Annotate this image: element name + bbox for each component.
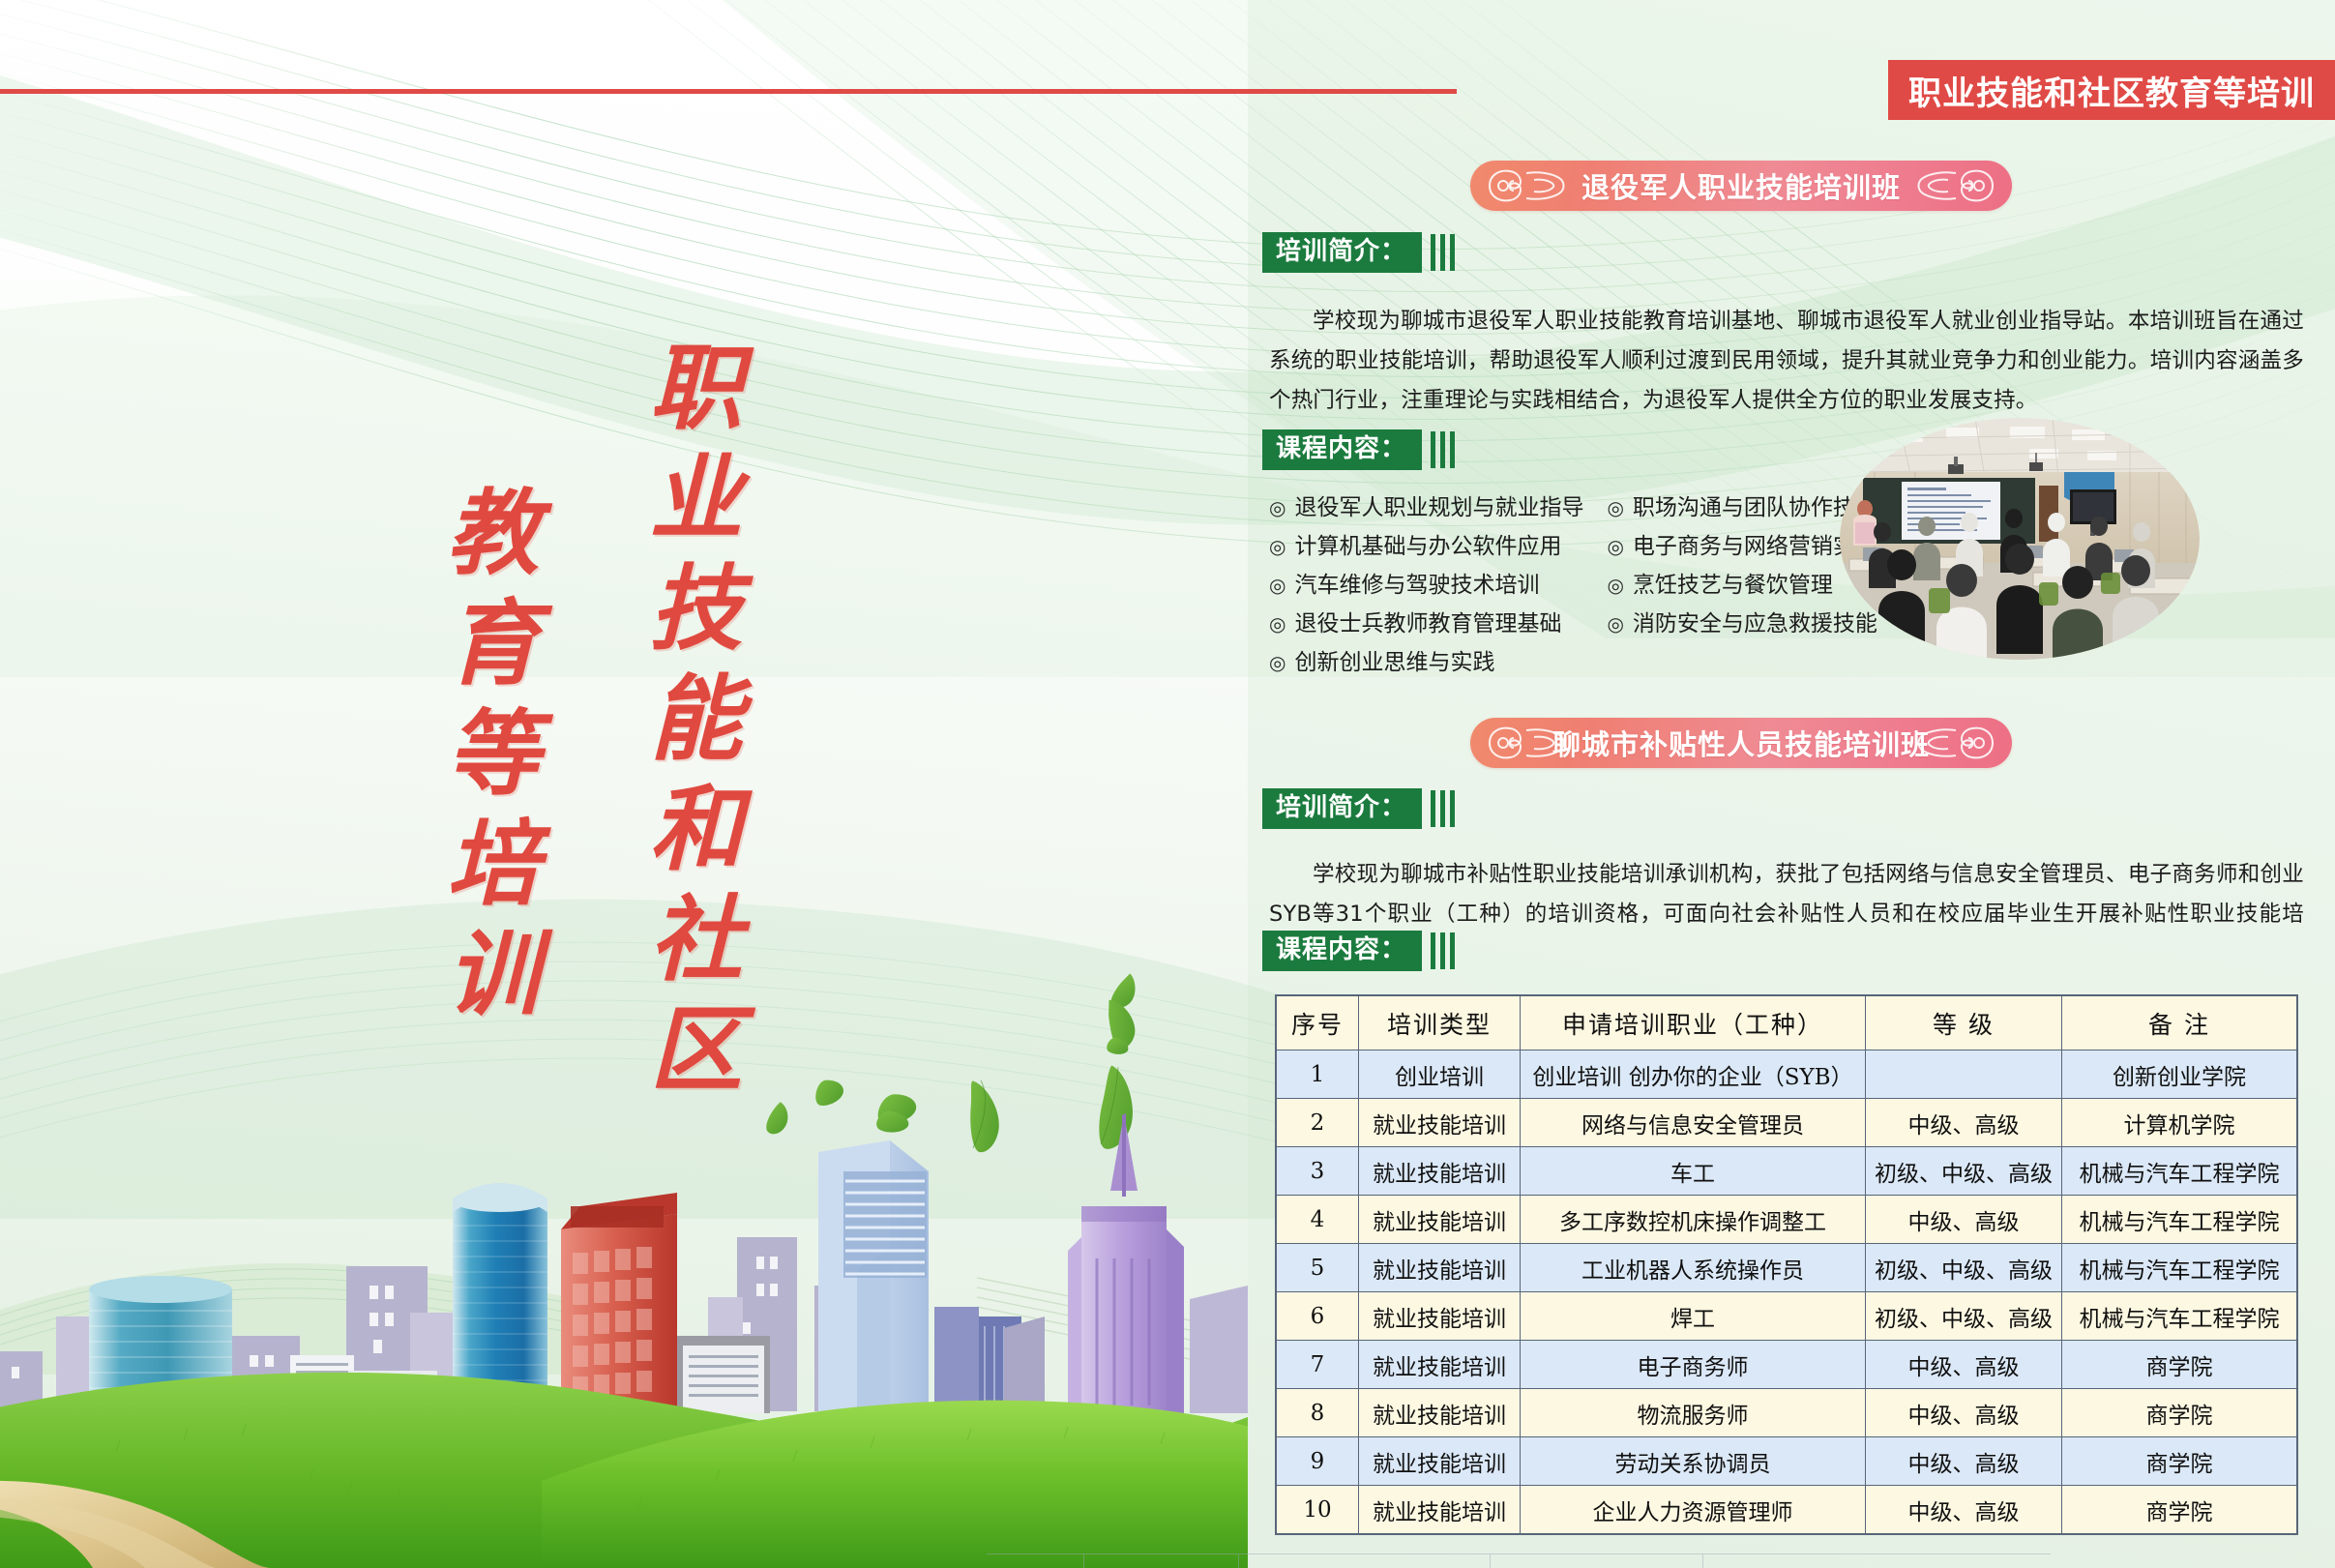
table-header-cell: 备 注 <box>2062 995 2298 1050</box>
cloud-ornament-left-icon <box>1484 724 1569 762</box>
table-cell-index: 6 <box>1276 1292 1359 1341</box>
bullet-marker-icon: ◎ <box>1607 532 1623 562</box>
table-row: 1 创业培训 创业培训 创办你的企业（SYB） 创新创业学院 <box>1276 1050 2297 1099</box>
table-cell-level: 初级、中级、高级 <box>1866 1292 2062 1341</box>
table-cell-type: 就业技能培训 <box>1359 1196 1521 1244</box>
header-red-rule <box>0 89 1457 94</box>
table-cell-remark: 机械与汽车工程学院 <box>2062 1147 2298 1196</box>
table-row: 6 就业技能培训 焊工 初级、中级、高级 机械与汽车工程学院 <box>1276 1292 2297 1341</box>
list-item-label: 汽车维修与驾驶技术培训 <box>1294 571 1539 601</box>
label-bars-icon <box>1431 789 1455 828</box>
table-row: 5 就业技能培训 工业机器人系统操作员 初级、中级、高级 机械与汽车工程学院 <box>1276 1244 2297 1292</box>
next-page-bleed <box>987 1553 2051 1568</box>
table-cell-remark: 机械与汽车工程学院 <box>2062 1292 2298 1341</box>
table-row: 8 就业技能培训 物流服务师 中级、高级 商学院 <box>1276 1389 2297 1437</box>
list-item: ◎ 电子商务与网络营销实战 <box>1607 532 1877 562</box>
table-cell-occupation: 焊工 <box>1521 1292 1866 1341</box>
cloud-ornament-right-icon <box>1913 724 1998 762</box>
table-cell-occupation: 车工 <box>1521 1147 1866 1196</box>
table-cell-index: 1 <box>1276 1050 1359 1099</box>
table-cell-remark: 商学院 <box>2062 1341 2298 1389</box>
cloud-ornament-left-icon <box>1484 166 1569 205</box>
table-cell-occupation: 工业机器人系统操作员 <box>1521 1244 1866 1292</box>
list-item: ◎ 退役军人职业规划与就业指导 <box>1269 493 1583 523</box>
list-item-label: 退役军人职业规划与就业指导 <box>1294 493 1583 523</box>
table-cell-remark: 商学院 <box>2062 1437 2298 1486</box>
bullet-marker-icon: ◎ <box>1607 493 1623 523</box>
table-cell-index: 3 <box>1276 1147 1359 1196</box>
table-cell-remark: 商学院 <box>2062 1486 2298 1535</box>
content-label-1: 课程内容： <box>1262 429 1455 470</box>
table-cell-type: 创业培训 <box>1359 1050 1521 1099</box>
bullet-marker-icon: ◎ <box>1269 493 1286 523</box>
label-bars-icon <box>1431 233 1455 272</box>
bullet-marker-icon: ◎ <box>1607 609 1623 639</box>
section-banner-1-title: 退役军人职业技能培训班 <box>1581 165 1901 206</box>
table-cell-level: 中级、高级 <box>1866 1486 2062 1535</box>
content-label-2: 课程内容： <box>1262 931 1455 971</box>
table-cell-remark: 机械与汽车工程学院 <box>2062 1196 2298 1244</box>
table-cell-index: 10 <box>1276 1486 1359 1535</box>
course-bullet-list-1: ◎ 退役军人职业规划与就业指导 ◎ 计算机基础与办公软件应用 ◎ 汽车维修与驾驶… <box>1269 493 1877 678</box>
table-cell-type: 就业技能培训 <box>1359 1147 1521 1196</box>
bullet-marker-icon: ◎ <box>1269 532 1286 562</box>
intro-paragraph-1: 学校现为聊城市退役军人职业技能教育培训基地、聊城市退役军人就业创业指导站。本培训… <box>1269 302 2304 421</box>
list-item-label: 创新创业思维与实践 <box>1294 648 1494 678</box>
list-item: ◎ 烹饪技艺与餐饮管理 <box>1607 571 1877 601</box>
table-cell-type: 就业技能培训 <box>1359 1292 1521 1341</box>
bullet-marker-icon: ◎ <box>1607 571 1623 601</box>
table-cell-level: 初级、中级、高级 <box>1866 1147 2062 1196</box>
course-table-wrap: 序号 培训类型 申请培训职业（工种） 等 级 备 注 1 创业培训 创业培训 创… <box>1275 994 2298 1535</box>
bullet-marker-icon: ◎ <box>1269 571 1286 601</box>
table-header-cell: 培训类型 <box>1359 995 1521 1050</box>
intro-label-1-text: 培训简介： <box>1262 232 1422 273</box>
brochure-page: 职业技能和社区教育等培训 职业技能和社区 教育等培训 <box>0 0 2335 1568</box>
table-cell-level: 中级、高级 <box>1866 1099 2062 1147</box>
table-cell-occupation: 网络与信息安全管理员 <box>1521 1099 1866 1147</box>
cover-title-line-1: 职业技能和社区 <box>640 339 735 1110</box>
bullet-column-1: ◎ 退役军人职业规划与就业指导 ◎ 计算机基础与办公软件应用 ◎ 汽车维修与驾驶… <box>1269 493 1583 678</box>
table-cell-occupation: 劳动关系协调员 <box>1521 1437 1866 1486</box>
label-bars-icon <box>1431 932 1455 970</box>
table-cell-remark: 创新创业学院 <box>2062 1050 2298 1099</box>
content-label-2-text: 课程内容： <box>1262 931 1422 971</box>
table-header-row: 序号 培训类型 申请培训职业（工种） 等 级 备 注 <box>1276 995 2297 1050</box>
table-cell-level: 中级、高级 <box>1866 1341 2062 1389</box>
table-row: 10 就业技能培训 企业人力资源管理师 中级、高级 商学院 <box>1276 1486 2297 1535</box>
table-cell-type: 就业技能培训 <box>1359 1486 1521 1535</box>
content-column: 退役军人职业技能培训班 培训简介： 学校现为聊城市退役军人职业技能教育培训基地、… <box>1248 0 2335 1568</box>
bullet-column-2: ◎ 职场沟通与团队协作技巧 ◎ 电子商务与网络营销实战 ◎ 烹饪技艺与餐饮管理 … <box>1607 493 1877 678</box>
table-cell-type: 就业技能培训 <box>1359 1341 1521 1389</box>
intro-label-2: 培训简介： <box>1262 788 1455 829</box>
table-cell-type: 就业技能培训 <box>1359 1244 1521 1292</box>
table-cell-type: 就业技能培训 <box>1359 1437 1521 1486</box>
table-cell-occupation: 创业培训 创办你的企业（SYB） <box>1521 1050 1866 1099</box>
table-cell-index: 7 <box>1276 1341 1359 1389</box>
intro-label-1: 培训简介： <box>1262 232 1455 273</box>
list-item-label: 退役士兵教师教育管理基础 <box>1294 609 1561 639</box>
list-item: ◎ 职场沟通与团队协作技巧 <box>1607 493 1877 523</box>
table-cell-index: 2 <box>1276 1099 1359 1147</box>
city-skyline-illustration <box>0 1026 1248 1568</box>
table-cell-occupation: 物流服务师 <box>1521 1389 1866 1437</box>
list-item-label: 烹饪技艺与餐饮管理 <box>1633 571 1833 601</box>
table-cell-type: 就业技能培训 <box>1359 1389 1521 1437</box>
table-cell-level: 中级、高级 <box>1866 1196 2062 1244</box>
table-cell-index: 8 <box>1276 1389 1359 1437</box>
intro-label-2-text: 培训简介： <box>1262 788 1422 829</box>
table-cell-occupation: 多工序数控机床操作调整工 <box>1521 1196 1866 1244</box>
table-cell-index: 9 <box>1276 1437 1359 1486</box>
table-cell-occupation: 企业人力资源管理师 <box>1521 1486 1866 1535</box>
table-row: 2 就业技能培训 网络与信息安全管理员 中级、高级 计算机学院 <box>1276 1099 2297 1147</box>
table-cell-level <box>1866 1050 2062 1099</box>
list-item: ◎ 消防安全与应急救援技能 <box>1607 609 1877 639</box>
table-cell-index: 4 <box>1276 1196 1359 1244</box>
list-item: ◎ 退役士兵教师教育管理基础 <box>1269 609 1583 639</box>
table-row: 3 就业技能培训 车工 初级、中级、高级 机械与汽车工程学院 <box>1276 1147 2297 1196</box>
bullet-marker-icon: ◎ <box>1269 609 1286 639</box>
list-item: ◎ 创新创业思维与实践 <box>1269 648 1583 678</box>
table-cell-level: 初级、中级、高级 <box>1866 1244 2062 1292</box>
section-banner-2-title: 聊城市补贴性人员技能培训班 <box>1552 723 1930 763</box>
table-header-cell: 等 级 <box>1866 995 2062 1050</box>
table-cell-remark: 商学院 <box>2062 1389 2298 1437</box>
cover-title-line-2: 教育等培训 <box>437 484 532 1035</box>
table-header-cell: 序号 <box>1276 995 1359 1050</box>
cover-title: 职业技能和社区 教育等培训 <box>387 339 735 1141</box>
cloud-ornament-right-icon <box>1913 166 1998 205</box>
table-row: 7 就业技能培训 电子商务师 中级、高级 商学院 <box>1276 1341 2297 1389</box>
list-item-label: 计算机基础与办公软件应用 <box>1294 532 1561 562</box>
course-table: 序号 培训类型 申请培训职业（工种） 等 级 备 注 1 创业培训 创业培训 创… <box>1275 994 2298 1535</box>
table-cell-type: 就业技能培训 <box>1359 1099 1521 1147</box>
table-cell-remark: 计算机学院 <box>2062 1099 2298 1147</box>
list-item-label: 职场沟通与团队协作技巧 <box>1633 493 1877 523</box>
table-body: 1 创业培训 创业培训 创办你的企业（SYB） 创新创业学院 2 就业技能培训 … <box>1276 1050 2297 1535</box>
section-banner-2: 聊城市补贴性人员技能培训班 <box>1470 718 2012 768</box>
table-cell-remark: 机械与汽车工程学院 <box>2062 1244 2298 1292</box>
table-row: 4 就业技能培训 多工序数控机床操作调整工 中级、高级 机械与汽车工程学院 <box>1276 1196 2297 1244</box>
list-item: ◎ 计算机基础与办公软件应用 <box>1269 532 1583 562</box>
list-item: ◎ 汽车维修与驾驶技术培训 <box>1269 571 1583 601</box>
section-banner-1: 退役军人职业技能培训班 <box>1470 161 2012 211</box>
bullet-marker-icon: ◎ <box>1269 648 1286 678</box>
table-cell-level: 中级、高级 <box>1866 1437 2062 1486</box>
classroom-photo <box>1840 418 2200 660</box>
list-item-label: 消防安全与应急救援技能 <box>1633 609 1877 639</box>
table-header-cell: 申请培训职业（工种） <box>1521 995 1866 1050</box>
table-row: 9 就业技能培训 劳动关系协调员 中级、高级 商学院 <box>1276 1437 2297 1486</box>
table-cell-index: 5 <box>1276 1244 1359 1292</box>
table-cell-level: 中级、高级 <box>1866 1389 2062 1437</box>
content-label-1-text: 课程内容： <box>1262 429 1422 470</box>
label-bars-icon <box>1431 430 1455 469</box>
table-cell-occupation: 电子商务师 <box>1521 1341 1866 1389</box>
